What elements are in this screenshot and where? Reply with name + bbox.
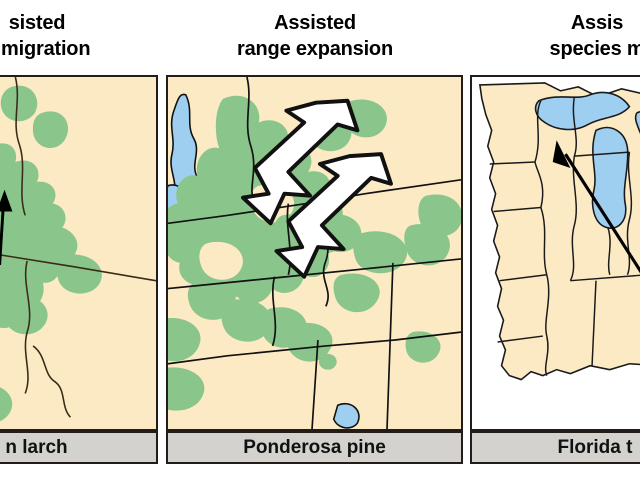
panel-1-title-line2: n migration: [0, 36, 156, 62]
panel-1-caption-bar: n larch: [0, 431, 158, 464]
panel-3-caption-bar: Florida t: [470, 431, 640, 464]
panel-2-caption-text: Ponderosa pine: [243, 437, 386, 459]
panel-2-title: Assisted range expansion: [196, 10, 434, 62]
panel-1-title: sisted n migration: [0, 10, 156, 62]
assisted-migration-figure: sisted n migration Assisted range expans…: [0, 0, 640, 480]
panel-2-map-svg: [168, 77, 461, 429]
panel-2-title-line1: Assisted: [196, 10, 434, 36]
panel-2-title-line2: range expansion: [196, 36, 434, 62]
panel-titles-row: sisted n migration Assisted range expans…: [0, 0, 640, 72]
panel-1-map-svg: [0, 77, 156, 429]
panel-3-title-line1: Assis: [478, 10, 640, 36]
panel-2-map: [166, 75, 463, 431]
panel-1-title-line1: sisted: [0, 10, 156, 36]
panel-1-caption-text: n larch: [5, 437, 67, 459]
panel-1-map: [0, 75, 158, 431]
lake-michigan: [593, 128, 628, 229]
panel-3-map: [470, 75, 640, 431]
panel-3-caption-text: Florida t: [558, 437, 633, 459]
panel-3-title-line2: species m: [478, 36, 640, 62]
panel-2-caption-bar: Ponderosa pine: [166, 431, 463, 464]
panel-3-title: Assis species m: [478, 10, 640, 62]
panel-3-map-svg: [472, 77, 640, 429]
